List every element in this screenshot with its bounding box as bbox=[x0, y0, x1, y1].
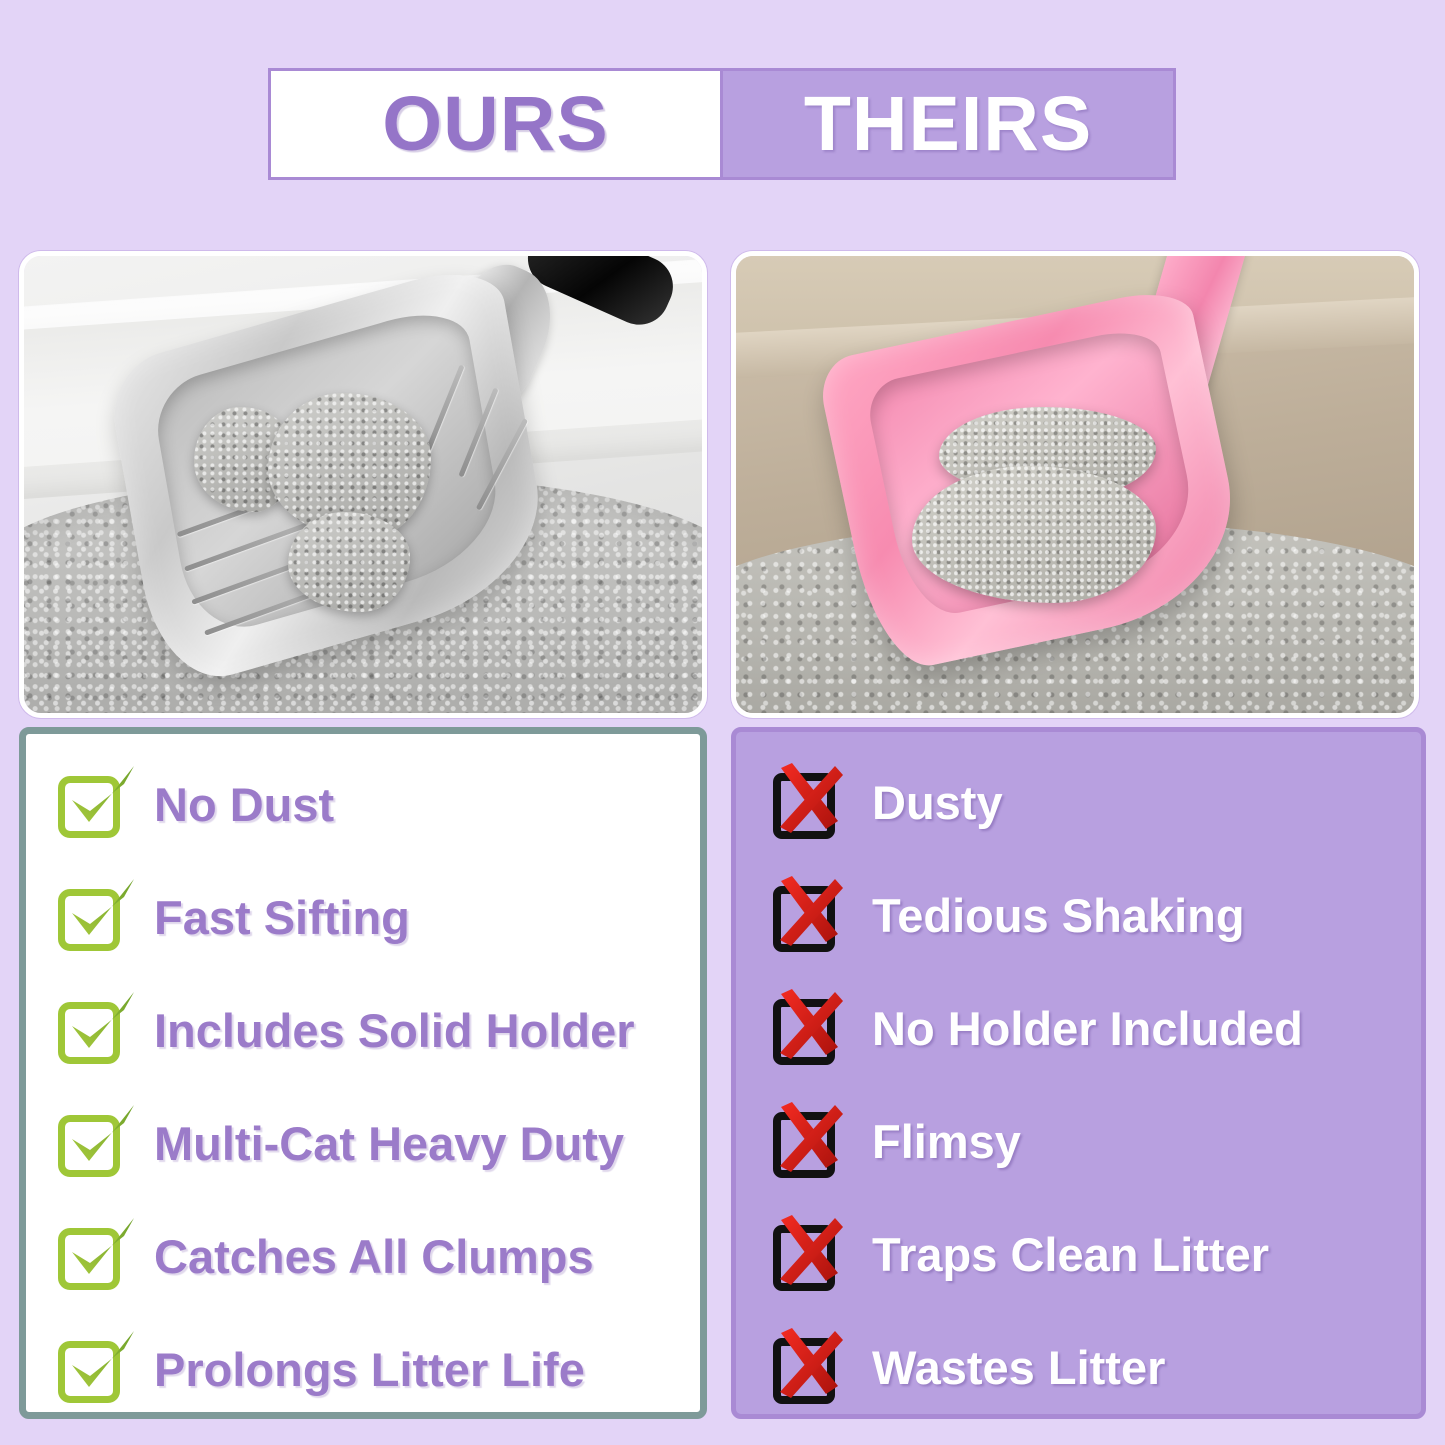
x-icon bbox=[768, 764, 846, 842]
header-theirs-label: THEIRS bbox=[804, 86, 1092, 163]
x-icon bbox=[768, 1103, 846, 1181]
list-item-label: No Holder Included bbox=[872, 1005, 1303, 1052]
list-item-label: Flimsy bbox=[872, 1118, 1021, 1165]
x-icon bbox=[768, 1216, 846, 1294]
list-item-label: Includes Solid Holder bbox=[154, 1007, 635, 1054]
theirs-product-photo bbox=[731, 251, 1419, 718]
list-item: Wastes Litter bbox=[736, 1311, 1421, 1424]
list-item-label: Traps Clean Litter bbox=[872, 1231, 1269, 1278]
list-item-label: Dusty bbox=[872, 779, 1003, 826]
list-item-label: Tedious Shaking bbox=[872, 892, 1245, 939]
theirs-feature-list: Dusty Tedious Shaking bbox=[736, 746, 1421, 1424]
theirs-photo-scene bbox=[736, 256, 1414, 713]
list-item-label: Fast Sifting bbox=[154, 894, 410, 941]
check-icon bbox=[54, 1331, 132, 1409]
list-item: No Dust bbox=[26, 748, 700, 861]
ours-photo-scene bbox=[24, 256, 702, 713]
check-icon bbox=[54, 879, 132, 957]
list-item: Multi-Cat Heavy Duty bbox=[26, 1087, 700, 1200]
list-item: Dusty bbox=[736, 746, 1421, 859]
theirs-feature-panel: Dusty Tedious Shaking bbox=[731, 727, 1426, 1419]
list-item-label: Multi-Cat Heavy Duty bbox=[154, 1120, 624, 1167]
ours-feature-panel: No Dust Fast Sifting Inclu bbox=[19, 727, 707, 1419]
list-item: Fast Sifting bbox=[26, 861, 700, 974]
ours-product-photo bbox=[19, 251, 707, 718]
list-item: Tedious Shaking bbox=[736, 859, 1421, 972]
x-icon bbox=[768, 877, 846, 955]
list-item-label: No Dust bbox=[154, 781, 334, 828]
list-item: Flimsy bbox=[736, 1085, 1421, 1198]
list-item: No Holder Included bbox=[736, 972, 1421, 1085]
litter-pile bbox=[912, 466, 1156, 603]
list-item-label: Prolongs Litter Life bbox=[154, 1346, 585, 1393]
list-item: Prolongs Litter Life bbox=[26, 1313, 700, 1426]
list-item: Catches All Clumps bbox=[26, 1200, 700, 1313]
check-icon bbox=[54, 1105, 132, 1183]
header-ours-label: OURS bbox=[382, 86, 608, 163]
list-item-label: Wastes Litter bbox=[872, 1344, 1165, 1391]
header-theirs-cell: THEIRS bbox=[723, 71, 1173, 177]
check-icon bbox=[54, 992, 132, 1070]
comparison-header: OURS THEIRS bbox=[268, 68, 1176, 180]
list-item-label: Catches All Clumps bbox=[154, 1233, 594, 1280]
list-item: Includes Solid Holder bbox=[26, 974, 700, 1087]
check-icon bbox=[54, 766, 132, 844]
header-ours-cell: OURS bbox=[271, 71, 723, 177]
comparison-infographic: OURS THEIRS bbox=[0, 0, 1445, 1445]
x-icon bbox=[768, 990, 846, 1068]
list-item: Traps Clean Litter bbox=[736, 1198, 1421, 1311]
ours-feature-list: No Dust Fast Sifting Inclu bbox=[26, 748, 700, 1426]
check-icon bbox=[54, 1218, 132, 1296]
x-icon bbox=[768, 1329, 846, 1407]
